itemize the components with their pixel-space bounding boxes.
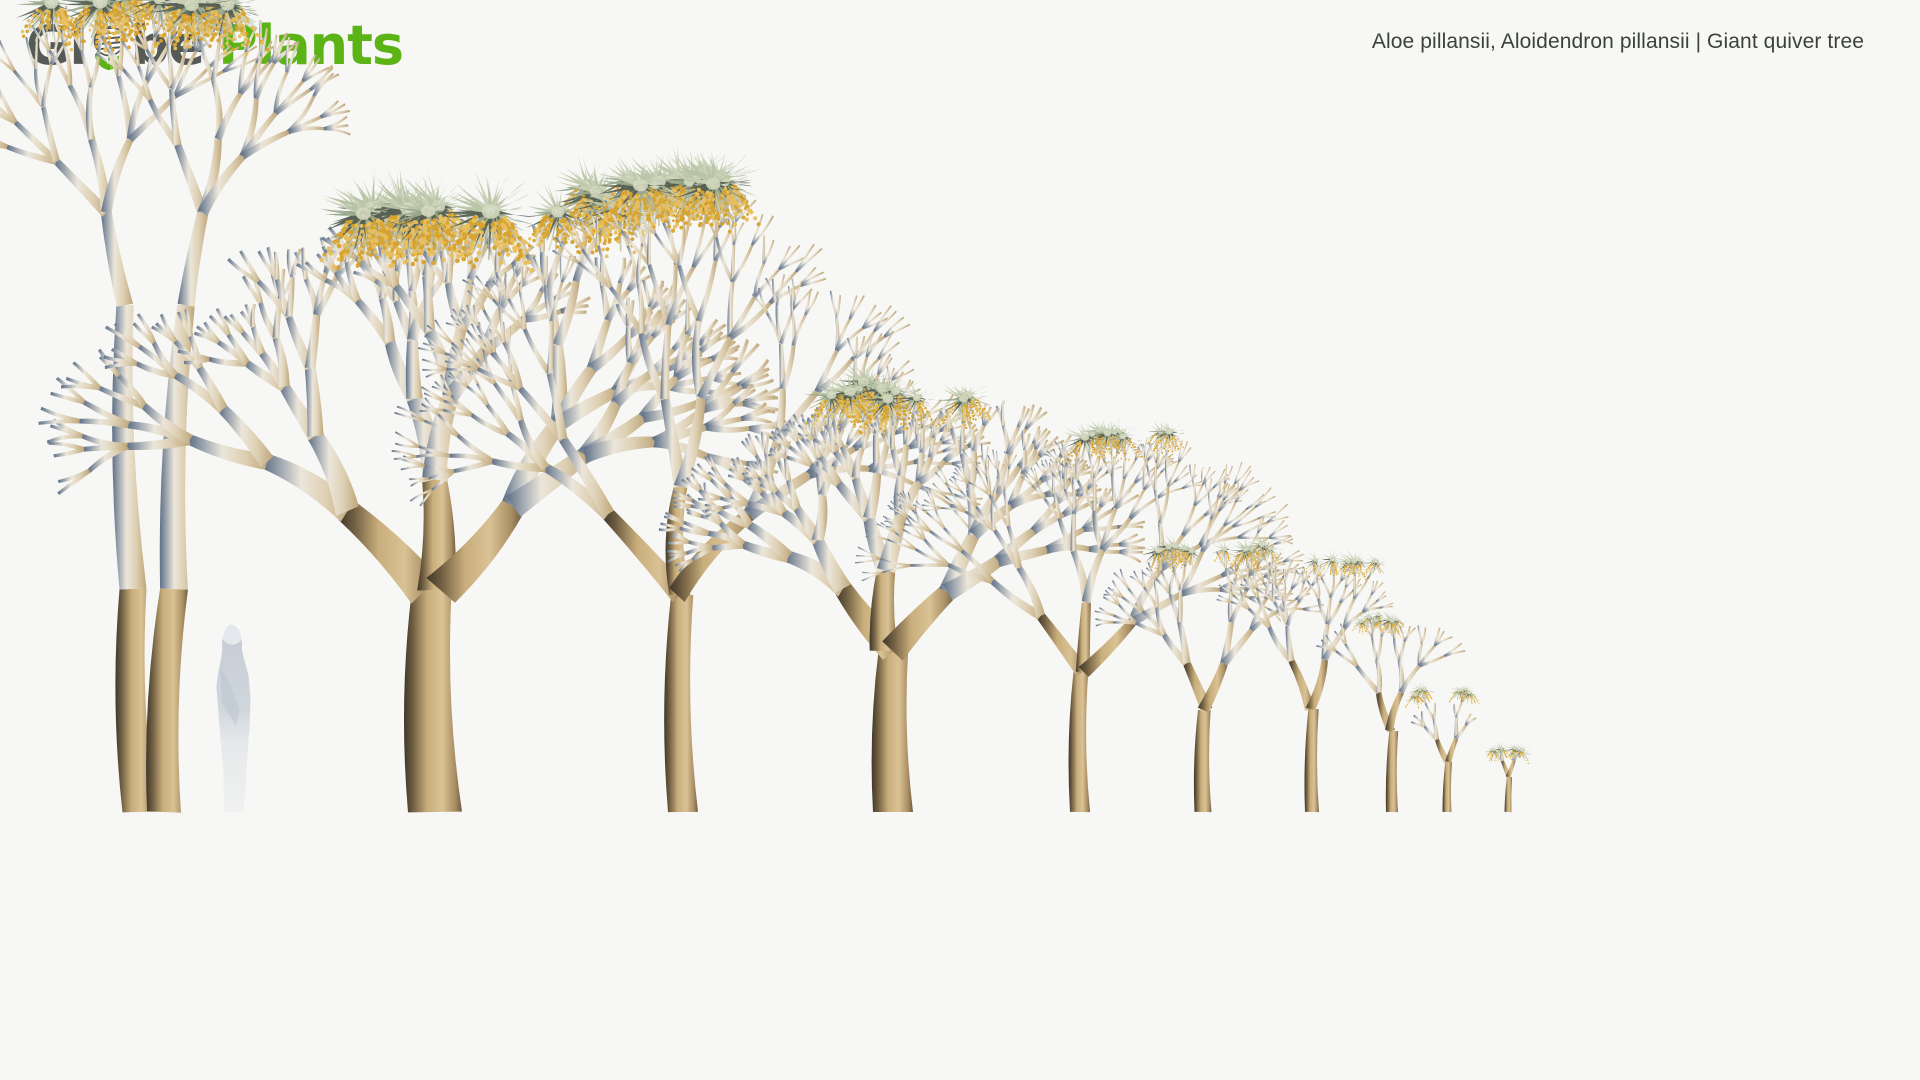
human-head-highlight bbox=[222, 624, 243, 644]
tree-10-smallest bbox=[1485, 740, 1531, 813]
branch bbox=[1375, 636, 1382, 662]
branch bbox=[1169, 572, 1175, 594]
branch bbox=[960, 423, 966, 453]
branch bbox=[1386, 731, 1398, 812]
branch bbox=[664, 595, 698, 812]
branch bbox=[1114, 482, 1136, 510]
branch bbox=[872, 651, 913, 812]
branch bbox=[285, 277, 294, 317]
branch bbox=[1001, 401, 1005, 426]
leaf-rosette bbox=[16, 0, 86, 51]
branch bbox=[1442, 762, 1452, 812]
branch bbox=[86, 88, 95, 140]
branch bbox=[1385, 692, 1404, 733]
human-scale-layer bbox=[216, 624, 250, 812]
branch bbox=[1194, 710, 1212, 812]
branch bbox=[101, 212, 133, 307]
human-scale-silhouette bbox=[216, 624, 250, 812]
branch bbox=[1192, 464, 1195, 482]
branch bbox=[812, 495, 828, 541]
branch bbox=[1306, 659, 1328, 711]
branch bbox=[696, 260, 718, 322]
branch bbox=[409, 477, 429, 480]
branch bbox=[178, 212, 209, 307]
branch bbox=[146, 588, 188, 812]
branch bbox=[34, 36, 38, 68]
branch bbox=[1421, 627, 1427, 644]
branch bbox=[198, 154, 246, 216]
branch bbox=[1202, 471, 1215, 486]
branch bbox=[1070, 514, 1076, 551]
branch bbox=[404, 590, 462, 812]
branch bbox=[1069, 672, 1090, 812]
branch bbox=[1282, 583, 1286, 602]
branch bbox=[41, 64, 53, 107]
branch bbox=[1432, 703, 1436, 719]
page-root: Gl be Plants Aloe pillan bbox=[0, 0, 1920, 1080]
branch bbox=[1445, 738, 1458, 763]
tree-06 bbox=[1095, 532, 1324, 812]
branch bbox=[1202, 467, 1211, 485]
branch bbox=[324, 127, 351, 135]
branch bbox=[1398, 641, 1406, 662]
tree-09 bbox=[1405, 681, 1480, 812]
branch bbox=[1238, 536, 1269, 539]
branch bbox=[1329, 580, 1342, 598]
branch bbox=[305, 368, 324, 437]
branch bbox=[836, 295, 841, 318]
branch bbox=[547, 321, 554, 374]
branch bbox=[1052, 476, 1055, 494]
scene-canvas bbox=[0, 0, 1920, 1080]
branch bbox=[849, 295, 865, 320]
branch bbox=[305, 314, 321, 368]
branch bbox=[1304, 709, 1319, 812]
branch bbox=[1505, 777, 1513, 812]
branch bbox=[0, 128, 8, 149]
branch bbox=[251, 304, 256, 327]
branch bbox=[1208, 478, 1212, 496]
plant-lineup-scene bbox=[0, 0, 1920, 1080]
branch bbox=[776, 274, 785, 306]
branch bbox=[1380, 606, 1393, 609]
branch bbox=[1455, 701, 1463, 718]
branch bbox=[1154, 463, 1158, 490]
branch bbox=[89, 52, 101, 88]
